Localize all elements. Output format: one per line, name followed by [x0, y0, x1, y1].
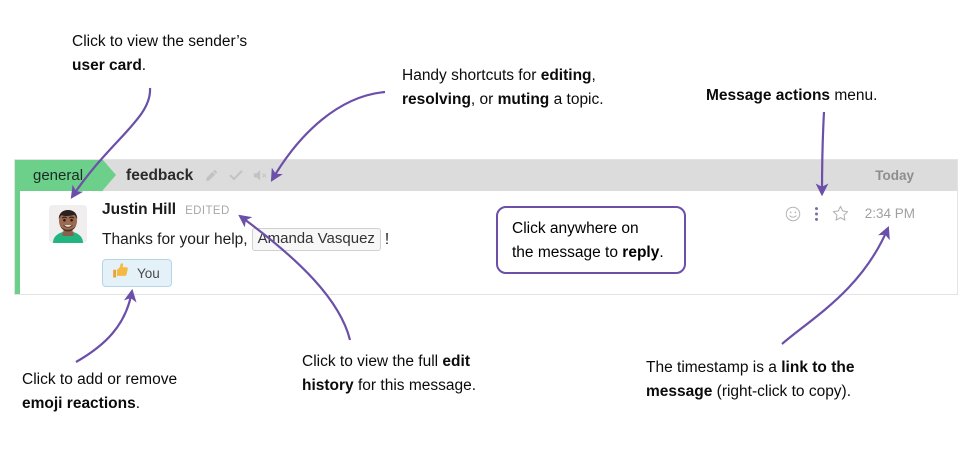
annotation-emoji-tail: . — [136, 395, 140, 412]
annotation-timestamp-link: link to the — [781, 359, 854, 376]
annotation-timestamp: The timestamp is a link to the message (… — [646, 356, 854, 404]
emoji-picker-icon[interactable] — [785, 206, 801, 222]
topic-bar: general feedback Today — [20, 160, 957, 191]
check-icon[interactable] — [228, 168, 244, 183]
annotation-timestamp-line1: The timestamp is a link to the — [646, 356, 854, 380]
mute-icon[interactable] — [253, 168, 270, 183]
annotation-emoji-bold: emoji reactions — [22, 395, 136, 412]
annotation-emoji-line1: Click to add or remove — [22, 368, 177, 392]
thumbs-up-icon — [112, 262, 129, 284]
edited-badge[interactable]: EDITED — [185, 205, 230, 217]
annotation-shortcuts-line2: resolving, or muting a topic. — [402, 88, 604, 112]
annotation-edit-history-tail: for this message. — [354, 377, 476, 394]
annotation-edit-history-line2: history for this message. — [302, 374, 476, 398]
annotation-reply-line2: the message to reply. — [512, 241, 684, 265]
annotation-user-card-tail: . — [142, 57, 146, 74]
user-mention-chip[interactable]: Amanda Vasquez — [252, 228, 381, 251]
message-panel: general feedback Today — [14, 159, 958, 295]
arrow-emoji-reactions — [76, 291, 132, 362]
annotation-edit-history-history: history — [302, 377, 354, 394]
annotation-edit-history-edit: edit — [442, 353, 470, 370]
stream-name-tag[interactable]: general — [20, 160, 103, 191]
annotation-user-card: Click to view the sender’s user card. — [72, 30, 247, 78]
annotation-timestamp-tail: (right-click to copy). — [712, 383, 851, 400]
annotation-reply-callout: Click anywhere on the message to reply. — [496, 206, 686, 274]
message-menu-icon[interactable] — [814, 206, 819, 222]
message-timestamp[interactable]: 2:34 PM — [865, 206, 915, 221]
annotation-shortcuts-editing: editing — [541, 67, 592, 84]
annotation-emoji-reactions: Click to add or remove emoji reactions. — [22, 368, 177, 416]
annotation-edit-history-line1: Click to view the full edit — [302, 350, 476, 374]
annotation-shortcuts-l2b: a topic. — [549, 91, 603, 108]
stream-name-label: general — [33, 167, 83, 184]
annotation-message-actions: Message actions menu. — [706, 84, 877, 108]
sender-name[interactable]: Justin Hill — [102, 201, 176, 219]
message-row[interactable]: Justin Hill EDITED Thanks for your help,… — [20, 191, 957, 294]
date-label: Today — [875, 168, 914, 183]
annotation-timestamp-line2: message (right-click to copy). — [646, 380, 854, 404]
annotation-message-actions-tail: menu. — [830, 87, 877, 104]
annotation-user-card-line1: Click to view the sender’s — [72, 30, 247, 54]
topic-name-label[interactable]: feedback — [126, 167, 193, 185]
avatar[interactable] — [49, 205, 87, 243]
message-text-after: ! — [385, 231, 389, 249]
annotation-timestamp-l1a: The timestamp is a — [646, 359, 781, 376]
annotation-reply-tail: . — [659, 244, 663, 261]
annotation-shortcuts-l2a: , or — [471, 91, 498, 108]
annotation-shortcuts-muting: muting — [498, 91, 550, 108]
annotation-shortcuts-resolving: resolving — [402, 91, 471, 108]
reaction-count-label: You — [137, 266, 160, 281]
annotation-timestamp-message: message — [646, 383, 712, 400]
message-action-icons: 2:34 PM — [785, 205, 915, 222]
emoji-reaction-button[interactable]: You — [102, 259, 172, 287]
annotation-shortcuts-l1b: , — [592, 67, 596, 84]
annotation-reply-bold: reply — [622, 244, 659, 261]
annotation-edit-history: Click to view the full edit history for … — [302, 350, 476, 398]
message-text-before: Thanks for your help, — [102, 231, 248, 249]
annotation-emoji-line2: emoji reactions. — [22, 392, 177, 416]
annotation-shortcuts: Handy shortcuts for editing, resolving, … — [402, 64, 604, 112]
annotation-shortcuts-line1: Handy shortcuts for editing, — [402, 64, 604, 88]
annotation-reply-l2a: the message to — [512, 244, 622, 261]
annotation-user-card-line2: user card. — [72, 54, 247, 78]
annotation-reply-line1: Click anywhere on — [512, 217, 684, 241]
annotation-message-actions-bold: Message actions — [706, 87, 830, 104]
annotation-shortcuts-l1a: Handy shortcuts for — [402, 67, 541, 84]
pencil-icon[interactable] — [204, 168, 219, 183]
topic-action-icons — [204, 168, 270, 183]
star-icon[interactable] — [832, 205, 849, 222]
annotation-user-card-bold: user card — [72, 57, 142, 74]
annotation-edit-history-l1a: Click to view the full — [302, 353, 442, 370]
